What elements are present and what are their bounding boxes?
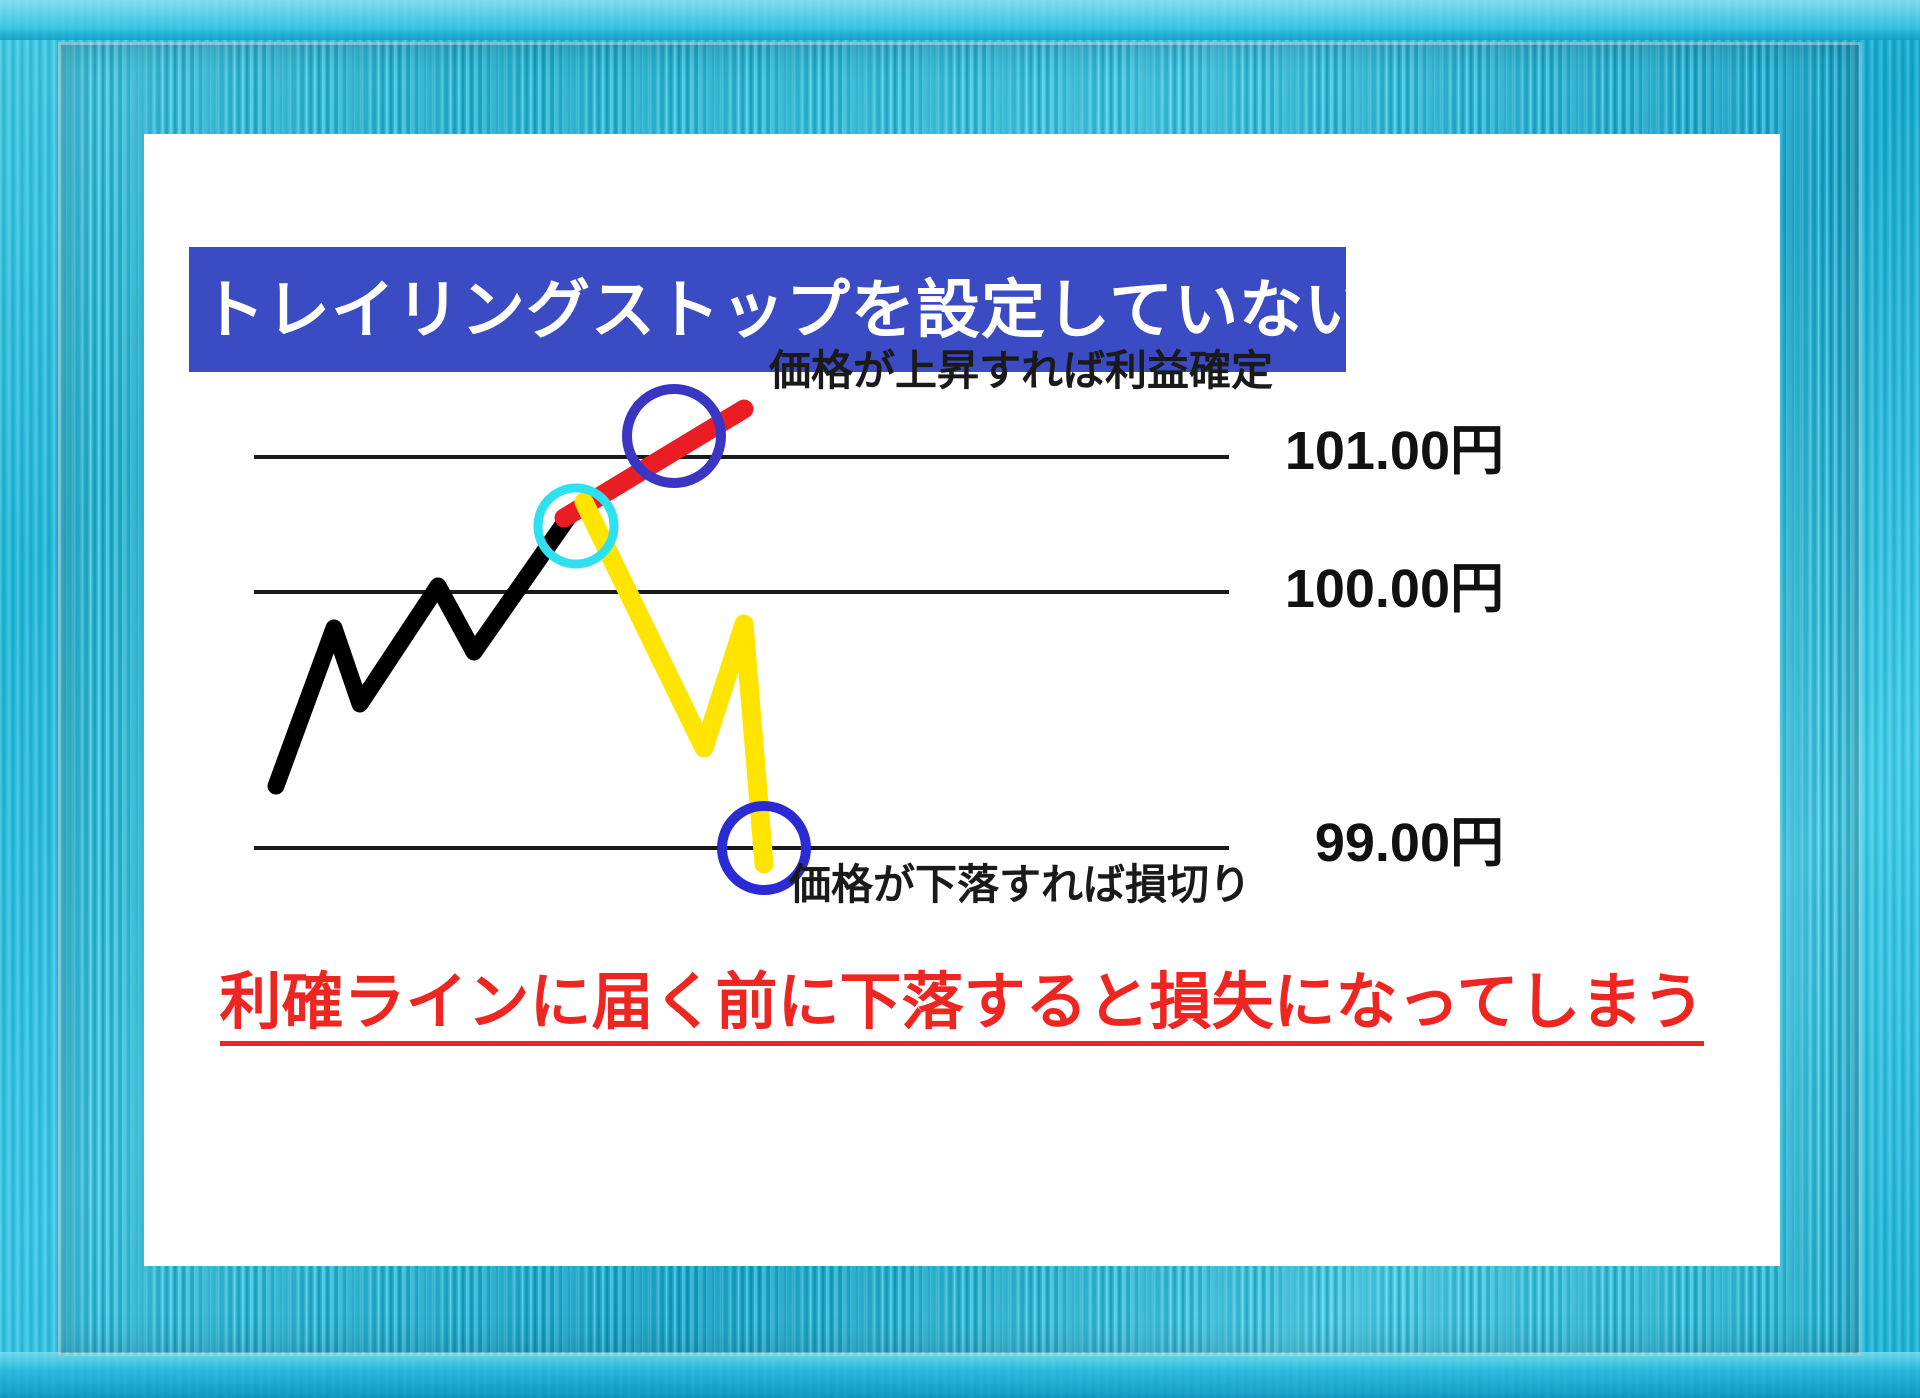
price-label-99: 99.00円 [1244,816,1504,870]
historical-price-line [276,512,572,786]
frame-edge-top [0,0,1920,40]
summary-caption: 利確ラインに届く前に下落すると損失になってしまう [144,972,1780,1034]
slide-canvas: トレイリングストップを設定していない場合 価格が上昇すれば利益確定 価格が下落す… [144,134,1780,1266]
frame-edge-bottom [0,1352,1920,1398]
annotation-upside: 価格が上昇すれば利益確定 [769,350,1273,392]
summary-caption-text: 利確ラインに届く前に下落すると損失になってしまう [220,968,1705,1046]
price-label-100: 100.00円 [1244,562,1504,616]
annotation-downside: 価格が下落すれば損切り [789,864,1251,906]
page-title: トレイリングストップを設定していない場合 [189,278,1346,342]
price-label-101: 101.00円 [1244,424,1504,478]
